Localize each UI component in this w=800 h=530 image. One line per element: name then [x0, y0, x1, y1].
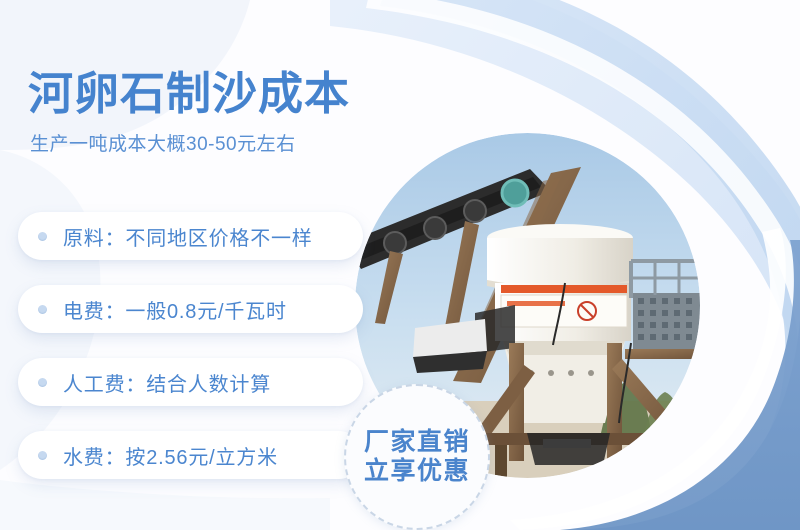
- promo-badge[interactable]: 厂家直销 立享优惠: [344, 384, 490, 530]
- list-item[interactable]: 水费：按2.56元/立方米: [18, 431, 363, 479]
- dot-icon: [38, 305, 47, 314]
- list-item-label: 电费：一般0.8元/千瓦时: [63, 295, 287, 324]
- dot-icon: [38, 378, 47, 387]
- promo-banner: 河卵石制沙成本 生产一吨成本大概30-50元左右 原料：不同地区价格不一样 电费…: [0, 0, 800, 530]
- promo-badge-line2: 立享优惠: [364, 457, 470, 487]
- page-subtitle: 生产一吨成本大概30-50元左右: [30, 129, 448, 156]
- list-item-label: 原料：不同地区价格不一样: [63, 222, 313, 251]
- promo-badge-line1: 厂家直销: [364, 428, 470, 458]
- page-title: 河卵石制沙成本: [28, 70, 448, 119]
- list-item[interactable]: 电费：一般0.8元/千瓦时: [18, 285, 363, 333]
- headline-block: 河卵石制沙成本 生产一吨成本大概30-50元左右: [28, 70, 448, 156]
- list-item-label: 人工费：结合人数计算: [63, 368, 271, 397]
- feature-list: 原料：不同地区价格不一样 电费：一般0.8元/千瓦时 人工费：结合人数计算 水费…: [18, 212, 363, 479]
- list-item-label: 水费：按2.56元/立方米: [63, 441, 278, 470]
- dot-icon: [38, 451, 47, 460]
- list-item[interactable]: 人工费：结合人数计算: [18, 358, 363, 406]
- list-item[interactable]: 原料：不同地区价格不一样: [18, 212, 363, 260]
- dot-icon: [38, 232, 47, 241]
